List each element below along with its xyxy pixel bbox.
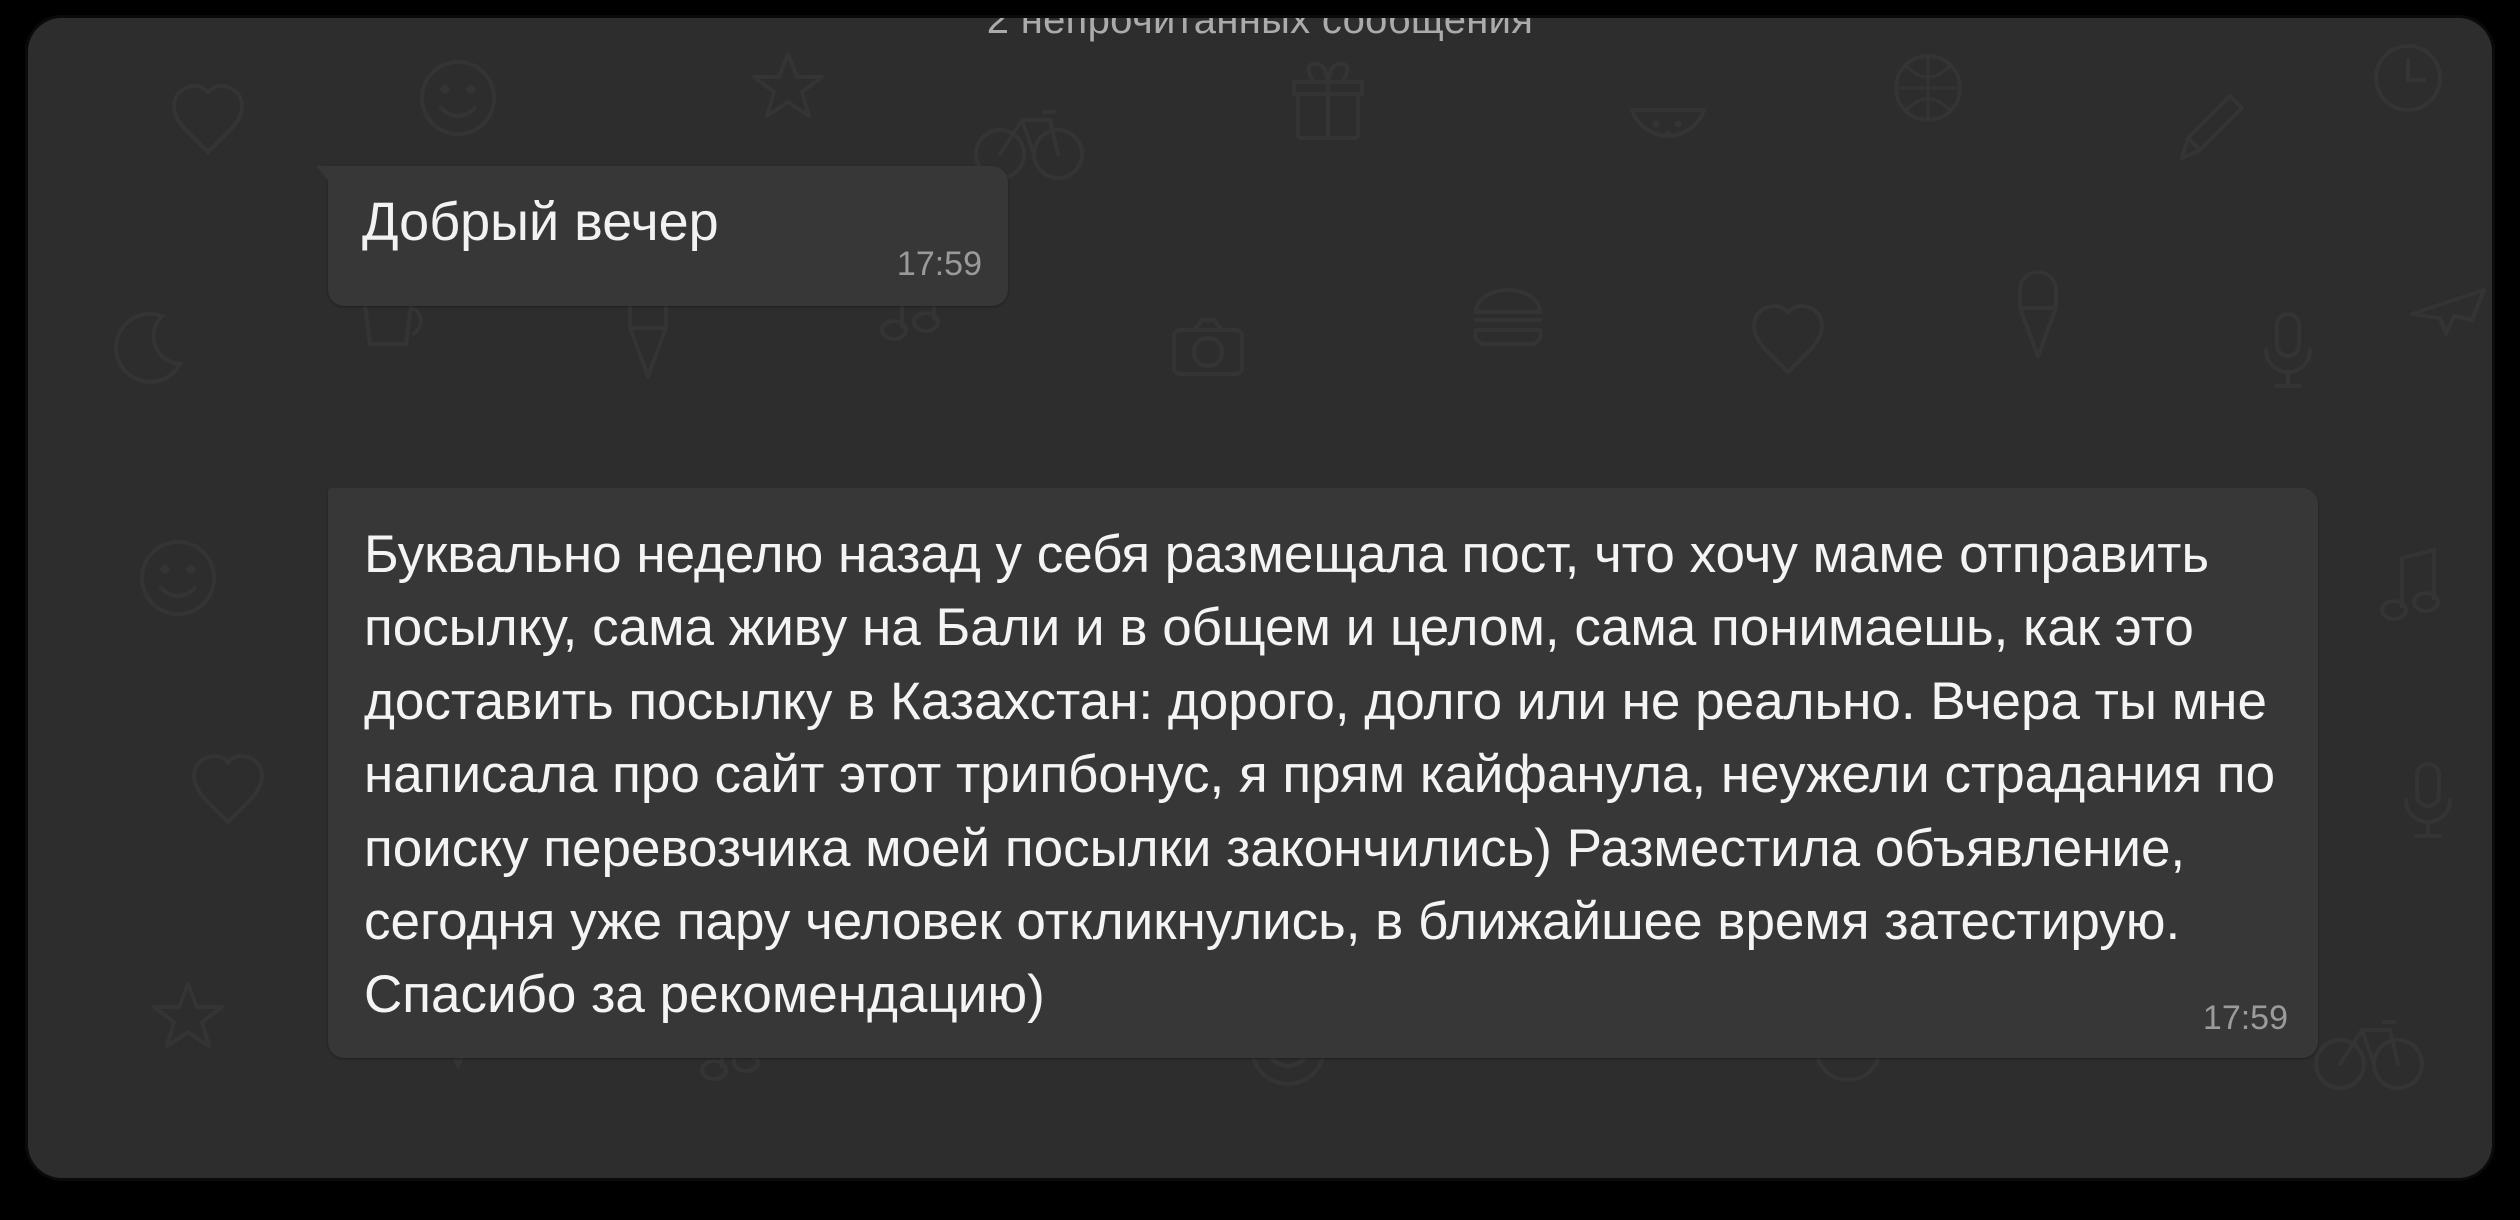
message-timestamp: 17:59: [2203, 999, 2288, 1038]
message-text: Буквально неделю назад у себя размещала …: [364, 518, 2282, 1032]
message-timestamp: 17:59: [897, 245, 982, 284]
message-text: Добрый вечер: [362, 194, 719, 251]
chat-screen: 2 непрочитанных сообщения Добрый вечер 1…: [28, 18, 2492, 1178]
message-bubble-long[interactable]: Буквально неделю назад у себя размещала …: [328, 488, 2318, 1058]
device-frame: 2 непрочитанных сообщения Добрый вечер 1…: [0, 0, 2520, 1220]
message-bubble-greeting[interactable]: Добрый вечер 17:59: [328, 166, 1008, 306]
bubble-tail-icon: [316, 166, 336, 190]
unread-messages-divider: 2 непрочитанных сообщения: [28, 18, 2492, 44]
message-list[interactable]: 2 непрочитанных сообщения Добрый вечер 1…: [28, 18, 2492, 1178]
